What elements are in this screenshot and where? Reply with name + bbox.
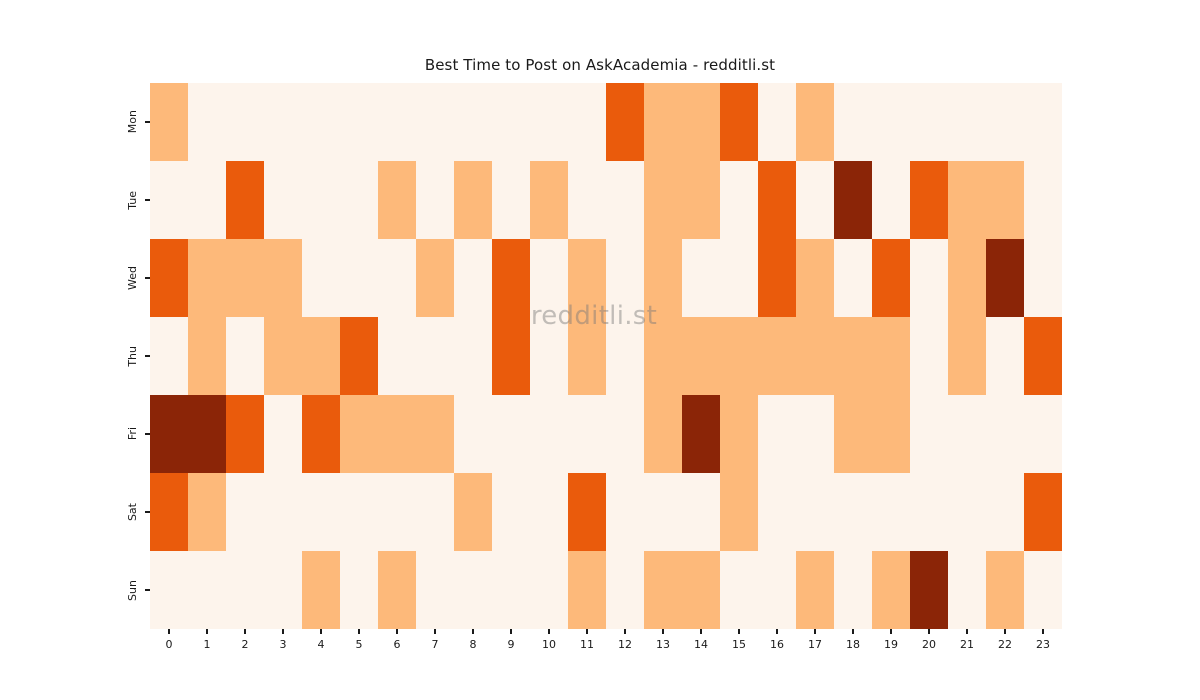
heat-cell bbox=[150, 473, 188, 551]
y-tick-sat: Sat bbox=[0, 473, 150, 551]
x-tick-16: 16 bbox=[758, 629, 796, 669]
x-tick-label: 16 bbox=[770, 639, 784, 650]
heat-cell bbox=[720, 317, 758, 395]
heat-cell bbox=[834, 395, 872, 473]
heat-cell bbox=[340, 473, 378, 551]
x-tick-mark bbox=[396, 629, 397, 634]
x-tick-mark bbox=[1042, 629, 1043, 634]
heat-cell bbox=[720, 473, 758, 551]
heat-cell bbox=[986, 161, 1024, 239]
heat-cell bbox=[568, 239, 606, 317]
y-tick-tue: Tue bbox=[0, 161, 150, 239]
heat-cell bbox=[454, 395, 492, 473]
heat-cell bbox=[910, 317, 948, 395]
heat-cell bbox=[986, 317, 1024, 395]
heat-cell bbox=[226, 239, 264, 317]
x-tick-label: 21 bbox=[960, 639, 974, 650]
heat-cell bbox=[150, 161, 188, 239]
y-tick-mark bbox=[145, 355, 150, 356]
heat-cell bbox=[910, 551, 948, 629]
heat-cell bbox=[264, 317, 302, 395]
y-tick-label: Sat bbox=[127, 503, 138, 521]
x-tick-mark bbox=[282, 629, 283, 634]
heat-cell bbox=[188, 317, 226, 395]
heat-cell bbox=[302, 161, 340, 239]
heat-cell bbox=[302, 551, 340, 629]
x-tick-mark bbox=[472, 629, 473, 634]
heat-cell bbox=[492, 551, 530, 629]
heat-cell bbox=[948, 395, 986, 473]
x-tick-mark bbox=[548, 629, 549, 634]
heat-cell bbox=[872, 395, 910, 473]
x-tick-mark bbox=[624, 629, 625, 634]
heat-cell bbox=[1024, 551, 1062, 629]
x-tick-mark bbox=[814, 629, 815, 634]
heat-cell bbox=[150, 239, 188, 317]
x-tick-6: 6 bbox=[378, 629, 416, 669]
heat-cell bbox=[644, 161, 682, 239]
x-tick-4: 4 bbox=[302, 629, 340, 669]
x-tick-22: 22 bbox=[986, 629, 1024, 669]
heat-cell bbox=[948, 83, 986, 161]
heatmap-figure: Best Time to Post on AskAcademia - reddi… bbox=[0, 0, 1200, 700]
heat-cell bbox=[644, 317, 682, 395]
heat-cell bbox=[416, 317, 454, 395]
heat-cell bbox=[606, 395, 644, 473]
heat-cell bbox=[796, 473, 834, 551]
heat-cell bbox=[606, 161, 644, 239]
x-tick-label: 19 bbox=[884, 639, 898, 650]
heat-cell bbox=[454, 239, 492, 317]
heat-cell bbox=[302, 317, 340, 395]
x-tick-mark bbox=[852, 629, 853, 634]
heat-cell bbox=[340, 83, 378, 161]
heat-cell bbox=[796, 551, 834, 629]
heat-cell bbox=[872, 239, 910, 317]
heat-cell bbox=[188, 473, 226, 551]
heat-cell bbox=[150, 551, 188, 629]
heat-cell bbox=[378, 395, 416, 473]
x-tick-14: 14 bbox=[682, 629, 720, 669]
heat-cell bbox=[454, 551, 492, 629]
x-tick-mark bbox=[662, 629, 663, 634]
heat-cell bbox=[530, 83, 568, 161]
heat-cell bbox=[1024, 473, 1062, 551]
heat-cell bbox=[720, 395, 758, 473]
x-tick-8: 8 bbox=[454, 629, 492, 669]
heat-cell bbox=[1024, 395, 1062, 473]
heat-cell bbox=[378, 83, 416, 161]
heat-cell bbox=[264, 395, 302, 473]
x-tick-label: 18 bbox=[846, 639, 860, 650]
x-tick-1: 1 bbox=[188, 629, 226, 669]
heat-cell bbox=[758, 83, 796, 161]
heat-cell bbox=[264, 83, 302, 161]
x-tick-label: 10 bbox=[542, 639, 556, 650]
heat-cell bbox=[416, 161, 454, 239]
x-tick-5: 5 bbox=[340, 629, 378, 669]
x-tick-mark bbox=[1004, 629, 1005, 634]
y-tick-mark bbox=[145, 433, 150, 434]
y-tick-label: Sun bbox=[127, 580, 138, 601]
heat-cell bbox=[302, 395, 340, 473]
heat-cell bbox=[834, 317, 872, 395]
heat-cell bbox=[872, 473, 910, 551]
x-tick-label: 6 bbox=[394, 639, 401, 650]
heat-cell bbox=[948, 317, 986, 395]
heat-cell bbox=[492, 317, 530, 395]
heat-cell bbox=[910, 239, 948, 317]
x-tick-label: 12 bbox=[618, 639, 632, 650]
heatmap-grid bbox=[150, 83, 1062, 629]
heat-cell bbox=[872, 83, 910, 161]
y-tick-label: Tue bbox=[127, 191, 138, 210]
y-tick-label: Fri bbox=[127, 427, 138, 440]
heat-cell bbox=[454, 473, 492, 551]
x-tick-mark bbox=[168, 629, 169, 634]
heat-cell bbox=[188, 161, 226, 239]
x-tick-label: 11 bbox=[580, 639, 594, 650]
x-tick-21: 21 bbox=[948, 629, 986, 669]
x-tick-mark bbox=[700, 629, 701, 634]
x-axis: 01234567891011121314151617181920212223 bbox=[150, 629, 1062, 669]
heat-cell bbox=[948, 161, 986, 239]
heat-cell bbox=[454, 317, 492, 395]
x-tick-19: 19 bbox=[872, 629, 910, 669]
y-tick-label: Thu bbox=[127, 346, 138, 367]
heat-cell bbox=[568, 473, 606, 551]
x-tick-label: 1 bbox=[204, 639, 211, 650]
heat-cell bbox=[226, 395, 264, 473]
heat-cell bbox=[492, 83, 530, 161]
heat-cell bbox=[606, 473, 644, 551]
heat-cell bbox=[226, 83, 264, 161]
heat-cell bbox=[226, 161, 264, 239]
heat-cell bbox=[682, 239, 720, 317]
heat-cell bbox=[492, 395, 530, 473]
y-tick-mark bbox=[145, 277, 150, 278]
x-tick-mark bbox=[320, 629, 321, 634]
y-tick-thu: Thu bbox=[0, 317, 150, 395]
heat-cell bbox=[720, 551, 758, 629]
heat-cell bbox=[758, 239, 796, 317]
heat-cell bbox=[150, 83, 188, 161]
x-tick-10: 10 bbox=[530, 629, 568, 669]
heat-cell bbox=[720, 161, 758, 239]
x-tick-mark bbox=[244, 629, 245, 634]
heat-cell bbox=[796, 395, 834, 473]
heat-cell bbox=[758, 473, 796, 551]
y-tick-label: Mon bbox=[127, 110, 138, 133]
heat-cell bbox=[644, 83, 682, 161]
heat-cell bbox=[568, 395, 606, 473]
heat-cell bbox=[796, 239, 834, 317]
heat-cell bbox=[796, 83, 834, 161]
heat-cell bbox=[910, 473, 948, 551]
heat-cell bbox=[1024, 317, 1062, 395]
x-tick-mark bbox=[738, 629, 739, 634]
heat-cell bbox=[416, 551, 454, 629]
heat-cell bbox=[340, 239, 378, 317]
x-tick-17: 17 bbox=[796, 629, 834, 669]
heat-cell bbox=[416, 473, 454, 551]
heat-cell bbox=[530, 161, 568, 239]
heat-cell bbox=[530, 239, 568, 317]
heat-cell bbox=[758, 161, 796, 239]
heat-cell bbox=[872, 317, 910, 395]
heat-cell bbox=[872, 161, 910, 239]
x-tick-9: 9 bbox=[492, 629, 530, 669]
heat-cell bbox=[758, 395, 796, 473]
heat-cell bbox=[682, 83, 720, 161]
heat-cell bbox=[682, 473, 720, 551]
plot-area bbox=[150, 83, 1062, 629]
x-tick-label: 5 bbox=[356, 639, 363, 650]
heat-cell bbox=[720, 83, 758, 161]
heat-cell bbox=[568, 317, 606, 395]
heat-cell bbox=[378, 161, 416, 239]
heat-cell bbox=[378, 317, 416, 395]
heat-cell bbox=[150, 317, 188, 395]
heat-cell bbox=[948, 239, 986, 317]
x-tick-0: 0 bbox=[150, 629, 188, 669]
y-tick-mark bbox=[145, 121, 150, 122]
heat-cell bbox=[606, 317, 644, 395]
x-tick-label: 13 bbox=[656, 639, 670, 650]
x-tick-label: 9 bbox=[508, 639, 515, 650]
heat-cell bbox=[986, 239, 1024, 317]
heat-cell bbox=[416, 83, 454, 161]
heat-cell bbox=[568, 83, 606, 161]
y-tick-mark bbox=[145, 199, 150, 200]
x-tick-mark bbox=[928, 629, 929, 634]
x-tick-label: 8 bbox=[470, 639, 477, 650]
heat-cell bbox=[1024, 161, 1062, 239]
heat-cell bbox=[188, 239, 226, 317]
heat-cell bbox=[948, 551, 986, 629]
y-axis: MonTueWedThuFriSatSun bbox=[0, 83, 150, 629]
heat-cell bbox=[188, 551, 226, 629]
heat-cell bbox=[530, 395, 568, 473]
heat-cell bbox=[264, 551, 302, 629]
heat-cell bbox=[986, 83, 1024, 161]
heat-cell bbox=[264, 161, 302, 239]
heat-cell bbox=[1024, 83, 1062, 161]
heat-cell bbox=[682, 317, 720, 395]
heat-cell bbox=[796, 161, 834, 239]
heat-cell bbox=[340, 161, 378, 239]
heat-cell bbox=[758, 551, 796, 629]
y-tick-mark bbox=[145, 589, 150, 590]
x-tick-label: 20 bbox=[922, 639, 936, 650]
x-tick-label: 0 bbox=[166, 639, 173, 650]
heat-cell bbox=[568, 551, 606, 629]
x-tick-label: 23 bbox=[1036, 639, 1050, 650]
y-tick-label: Wed bbox=[127, 266, 138, 290]
heat-cell bbox=[188, 83, 226, 161]
x-tick-13: 13 bbox=[644, 629, 682, 669]
x-tick-18: 18 bbox=[834, 629, 872, 669]
x-tick-mark bbox=[586, 629, 587, 634]
heat-cell bbox=[454, 161, 492, 239]
x-tick-label: 17 bbox=[808, 639, 822, 650]
x-tick-mark bbox=[206, 629, 207, 634]
heat-cell bbox=[720, 239, 758, 317]
heat-cell bbox=[530, 317, 568, 395]
x-tick-label: 3 bbox=[280, 639, 287, 650]
x-tick-label: 7 bbox=[432, 639, 439, 650]
heat-cell bbox=[340, 551, 378, 629]
x-tick-7: 7 bbox=[416, 629, 454, 669]
heat-cell bbox=[416, 395, 454, 473]
x-tick-container: 01234567891011121314151617181920212223 bbox=[150, 629, 1062, 669]
heat-cell bbox=[150, 395, 188, 473]
heat-cell bbox=[948, 473, 986, 551]
heat-cell bbox=[416, 239, 454, 317]
heat-cell bbox=[986, 551, 1024, 629]
x-tick-label: 14 bbox=[694, 639, 708, 650]
heat-cell bbox=[910, 161, 948, 239]
heat-cell bbox=[834, 239, 872, 317]
x-tick-23: 23 bbox=[1024, 629, 1062, 669]
heat-cell bbox=[302, 473, 340, 551]
x-tick-20: 20 bbox=[910, 629, 948, 669]
x-tick-mark bbox=[510, 629, 511, 634]
heat-cell bbox=[264, 239, 302, 317]
heat-cell bbox=[910, 395, 948, 473]
heat-cell bbox=[834, 551, 872, 629]
heat-cell bbox=[226, 317, 264, 395]
heat-cell bbox=[606, 239, 644, 317]
y-tick-mark bbox=[145, 511, 150, 512]
chart-title: Best Time to Post on AskAcademia - reddi… bbox=[0, 56, 1200, 74]
heat-cell bbox=[530, 551, 568, 629]
x-tick-label: 15 bbox=[732, 639, 746, 650]
x-tick-15: 15 bbox=[720, 629, 758, 669]
y-tick-mon: Mon bbox=[0, 83, 150, 161]
heat-cell bbox=[378, 551, 416, 629]
x-tick-label: 4 bbox=[318, 639, 325, 650]
heat-cell bbox=[986, 395, 1024, 473]
heat-cell bbox=[606, 83, 644, 161]
heat-cell bbox=[606, 551, 644, 629]
heat-cell bbox=[454, 83, 492, 161]
x-tick-2: 2 bbox=[226, 629, 264, 669]
heat-cell bbox=[644, 551, 682, 629]
y-tick-sun: Sun bbox=[0, 551, 150, 629]
x-tick-11: 11 bbox=[568, 629, 606, 669]
heat-cell bbox=[492, 473, 530, 551]
heat-cell bbox=[340, 395, 378, 473]
heat-cell bbox=[492, 239, 530, 317]
heat-cell bbox=[796, 317, 834, 395]
heat-cell bbox=[302, 83, 340, 161]
heat-cell bbox=[910, 83, 948, 161]
heat-cell bbox=[340, 317, 378, 395]
heat-cell bbox=[264, 473, 302, 551]
x-tick-mark bbox=[776, 629, 777, 634]
y-tick-wed: Wed bbox=[0, 239, 150, 317]
heat-cell bbox=[492, 161, 530, 239]
x-tick-mark bbox=[358, 629, 359, 634]
x-tick-mark bbox=[966, 629, 967, 634]
heat-cell bbox=[834, 83, 872, 161]
heat-cell bbox=[226, 473, 264, 551]
heat-cell bbox=[188, 395, 226, 473]
heat-cell bbox=[644, 395, 682, 473]
x-tick-mark bbox=[434, 629, 435, 634]
heat-cell bbox=[302, 239, 340, 317]
heat-cell bbox=[834, 473, 872, 551]
y-tick-fri: Fri bbox=[0, 395, 150, 473]
heat-cell bbox=[568, 161, 606, 239]
heat-cell bbox=[986, 473, 1024, 551]
heat-cell bbox=[226, 551, 264, 629]
heat-cell bbox=[378, 239, 416, 317]
heat-cell bbox=[644, 239, 682, 317]
heat-cell bbox=[682, 395, 720, 473]
heat-cell bbox=[682, 551, 720, 629]
heat-cell bbox=[1024, 239, 1062, 317]
heat-cell bbox=[682, 161, 720, 239]
x-tick-label: 2 bbox=[242, 639, 249, 650]
heat-cell bbox=[834, 161, 872, 239]
heat-cell bbox=[378, 473, 416, 551]
x-tick-mark bbox=[890, 629, 891, 634]
heat-cell bbox=[644, 473, 682, 551]
x-tick-12: 12 bbox=[606, 629, 644, 669]
x-tick-3: 3 bbox=[264, 629, 302, 669]
heat-cell bbox=[872, 551, 910, 629]
x-tick-label: 22 bbox=[998, 639, 1012, 650]
heat-cell bbox=[530, 473, 568, 551]
heat-cell bbox=[758, 317, 796, 395]
